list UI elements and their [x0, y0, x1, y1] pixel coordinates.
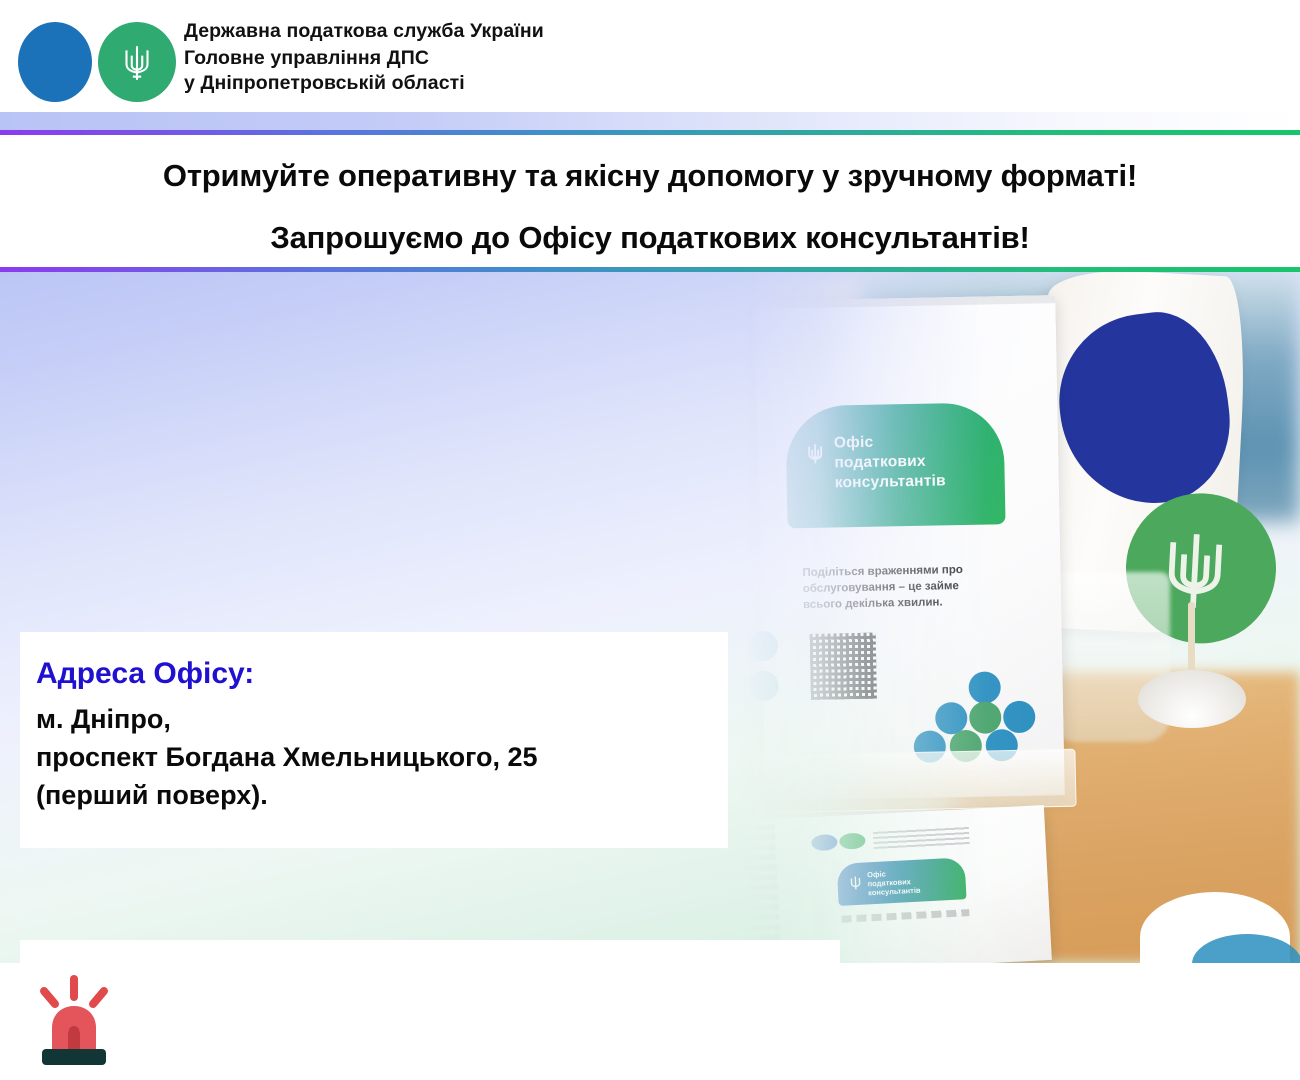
qr-code-icon — [810, 633, 877, 700]
org-title-block: Державна податкова служба України Головн… — [184, 16, 544, 96]
photo-booklet-logo-blue — [811, 834, 838, 851]
logo-blue-circle-icon — [18, 22, 92, 102]
photo-table-card: Офіс податкових консультантів Поділіться… — [755, 295, 1065, 801]
address-box-title: Адреса Офісу: — [36, 654, 728, 694]
alarm-siren-icon — [24, 973, 124, 1073]
headline-primary: Отримуйте оперативну та якісну допомогу … — [0, 135, 1300, 193]
org-logo — [8, 12, 168, 100]
photo-card-logo-line-1: Офіс — [834, 431, 945, 453]
org-title-line-3: у Дніпропетровській області — [184, 71, 544, 96]
photo-booklet-logo-text: Офіс податкових консультантів — [867, 868, 921, 898]
photo-card-dot-cluster — [912, 670, 1043, 742]
tryzub-emblem-icon — [121, 42, 153, 84]
office-photo: Офіс податкових консультантів Поділіться… — [740, 272, 1300, 963]
address-line-3: (перший поверх). — [36, 776, 728, 814]
photo-booklet-tagline — [841, 909, 969, 923]
org-title-line-1: Державна податкова служба України — [184, 16, 544, 46]
photo-booklet-logo-line-3: консультантів — [868, 886, 921, 898]
page-footer: Важливо! Під час повітряної тривоги нада… — [0, 963, 1300, 1080]
address-line-2: проспект Богдана Хмельницького, 25 — [36, 738, 728, 776]
photo-card-subtext-line-3: всього декілька хвилин. — [803, 593, 1023, 613]
photo-card-tryzub-icon — [806, 442, 824, 466]
hours-box: Режим роботи Офісу: понеділок – п’ятниця… — [20, 940, 840, 963]
photo-card-logo-line-2: податкових — [834, 451, 945, 473]
photo-acrylic-tray — [753, 749, 1076, 814]
photo-card-left-dots — [762, 630, 798, 721]
address-line-1: м. Дніпро, — [36, 700, 728, 738]
header-soft-band — [0, 112, 1300, 130]
page-header: Державна податкова служба України Головн… — [0, 0, 1300, 112]
photo-card-logo-line-3: консультантів — [835, 471, 946, 493]
photo-card-subtext: Поділіться враженнями про обслуговування… — [802, 561, 1023, 613]
photo-booklet-logo-green — [839, 832, 866, 849]
headline-section: Отримуйте оперативну та якісну допомогу … — [0, 135, 1300, 267]
headline-secondary: Запрошуємо до Офісу податкових консульта… — [0, 193, 1300, 255]
photo-card-logo-text: Офіс податкових консультантів — [834, 431, 946, 493]
slide-page: Державна податкова служба України Головн… — [0, 0, 1300, 1080]
photo-booklet-logo-pill: Офіс податкових консультантів — [837, 857, 967, 906]
photo-flag-blue-shape — [1049, 305, 1239, 514]
photo-booklet-header-text — [873, 826, 970, 849]
photo-flag-stand — [1138, 670, 1246, 728]
photo-booklet-tryzub-icon — [849, 875, 862, 892]
address-box: Адреса Офісу: м. Дніпро, проспект Богдан… — [20, 632, 728, 848]
org-title-line-2: Головне управління ДПС — [184, 46, 544, 71]
photo-card-logo-pill: Офіс податкових консультантів — [785, 402, 1005, 528]
main-content: Офіс податкових консультантів Поділіться… — [0, 272, 1300, 963]
